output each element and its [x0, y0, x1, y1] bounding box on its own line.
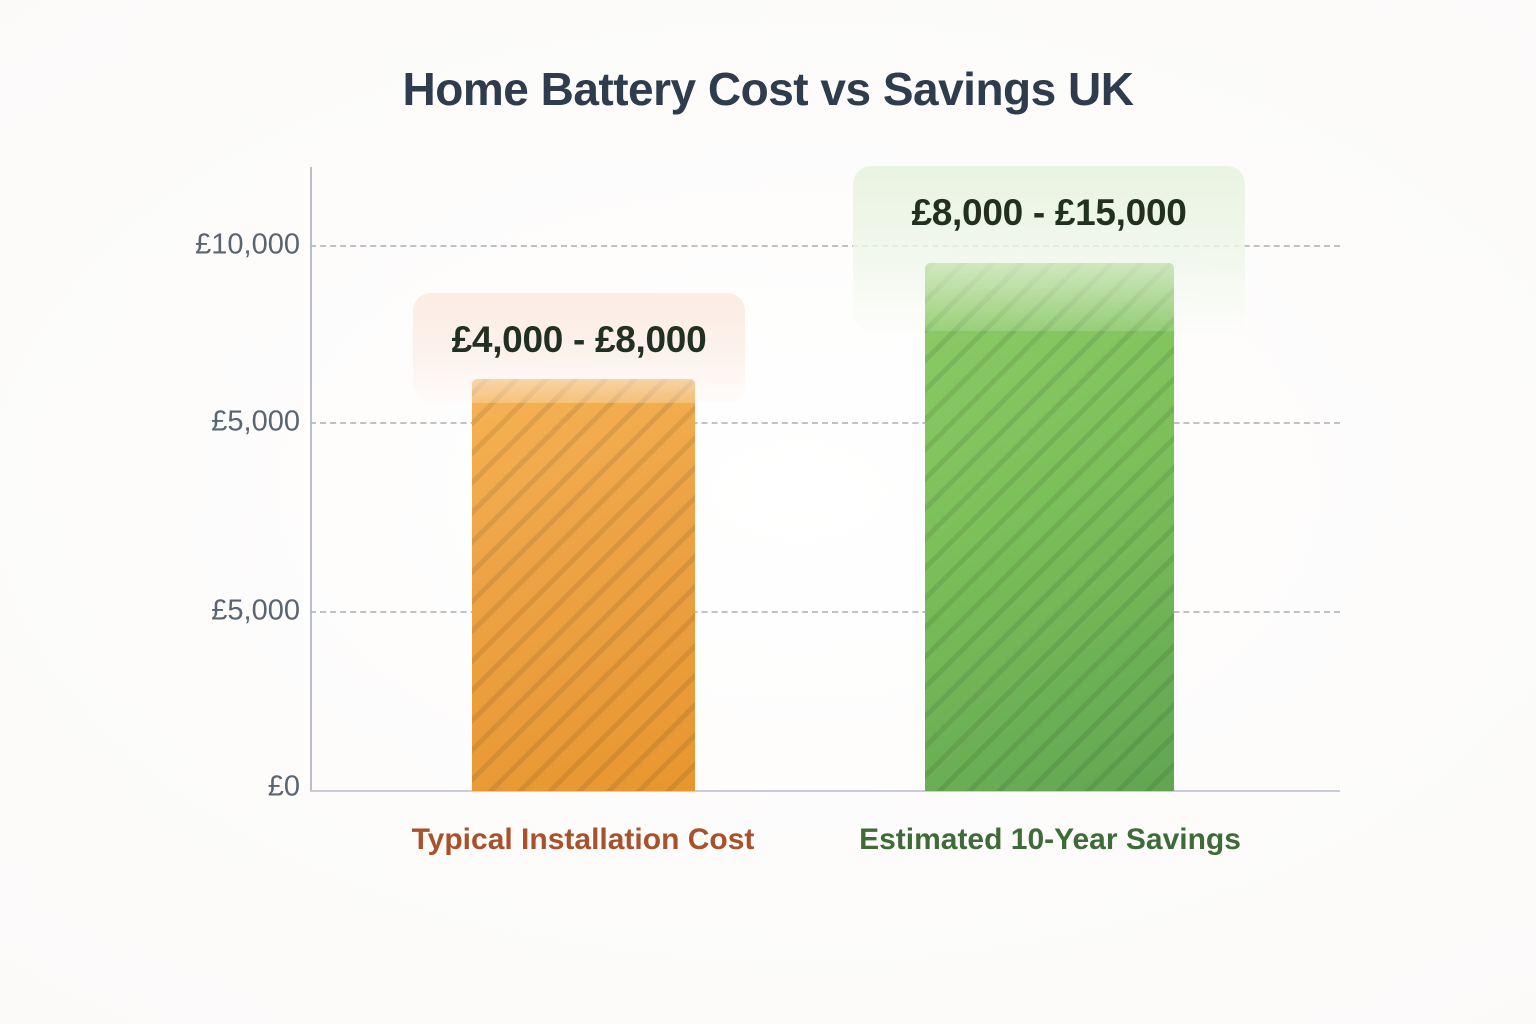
x-axis-category-label-typical-installation-cost: Typical Installation Cost — [383, 823, 783, 857]
x-axis-category-label-estimated-10-year-savings: Estimated 10-Year Savings — [840, 823, 1260, 857]
y-axis-tick-label-10000: £10,000 — [195, 229, 300, 262]
value-label-estimated-10-year-savings: £8,000 - £15,000 — [853, 166, 1245, 331]
bar-hatch-pattern — [925, 263, 1174, 791]
bar-hatch-pattern — [472, 379, 695, 791]
y-axis-tick-label-5000-lower: £5,000 — [211, 595, 300, 628]
y-axis-tick-label-5000-upper: £5,000 — [211, 406, 300, 439]
gridline-upper-5000 — [310, 422, 1340, 424]
chart-canvas: Home Battery Cost vs Savings UK £10,000 … — [0, 0, 1536, 1024]
gridline-lower-5000 — [310, 611, 1340, 613]
y-axis-tick-label-0: £0 — [268, 771, 300, 804]
bar-estimated-10-year-savings[interactable] — [925, 263, 1174, 791]
value-label-typical-installation-cost: £4,000 - £8,000 — [413, 293, 745, 403]
bar-typical-installation-cost[interactable] — [472, 379, 695, 791]
chart-title: Home Battery Cost vs Savings UK — [0, 62, 1536, 116]
